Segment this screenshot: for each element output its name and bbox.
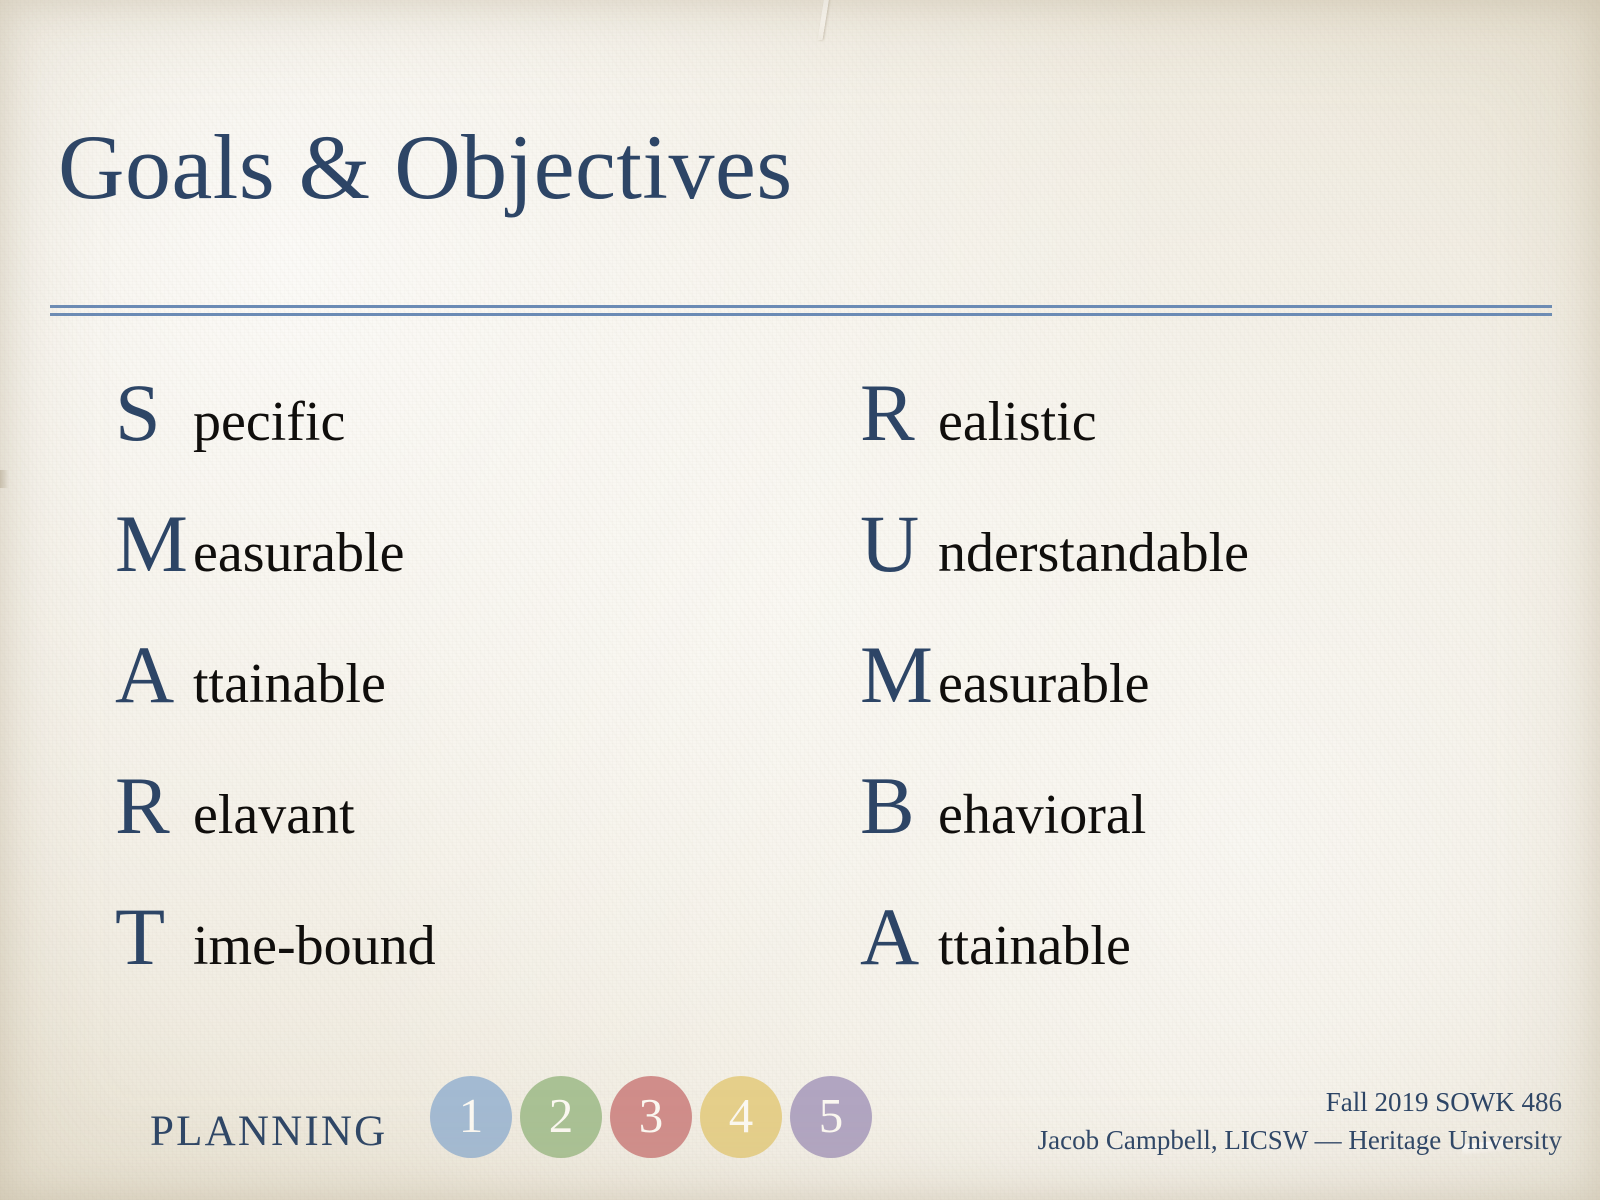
acronym-word: ehavioral <box>938 787 1146 843</box>
step-dot-label: 1 <box>459 1091 484 1140</box>
acronym-word: easurable <box>938 656 1149 712</box>
credits-course: Fall 2019 SOWK 486 <box>1038 1084 1562 1122</box>
acronym-item: R elavant <box>115 765 815 896</box>
step-dot-label: 4 <box>729 1091 754 1140</box>
acronym-initial: R <box>115 765 191 847</box>
step-indicator: 1 2 3 4 5 <box>430 1076 872 1158</box>
acronym-item: T ime-bound <box>115 896 815 1027</box>
acronym-item: S pecific <box>115 372 815 503</box>
step-dot-label: 2 <box>549 1091 574 1140</box>
credits-author: Jacob Campbell, LICSW — Heritage Univers… <box>1038 1122 1562 1160</box>
slide-footer: PLANNING 1 2 3 4 5 Fall 2019 SOWK 486 Ja… <box>0 1070 1600 1200</box>
slide: Goals & Objectives S pecific M easurable… <box>0 0 1600 1200</box>
slide-title: Goals & Objectives <box>58 119 793 216</box>
acronym-initial: A <box>115 634 191 716</box>
step-dot-1[interactable]: 1 <box>430 1076 512 1158</box>
acronym-item: R ealistic <box>860 372 1560 503</box>
credits-block: Fall 2019 SOWK 486 Jacob Campbell, LICSW… <box>1038 1084 1562 1160</box>
acronym-item: A ttainable <box>860 896 1560 1027</box>
acronym-word: ime-bound <box>193 918 436 974</box>
step-dot-2[interactable]: 2 <box>520 1076 602 1158</box>
step-dot-5[interactable]: 5 <box>790 1076 872 1158</box>
step-dot-label: 5 <box>819 1091 844 1140</box>
acronym-word: nderstandable <box>938 525 1249 581</box>
step-dot-3[interactable]: 3 <box>610 1076 692 1158</box>
divider-line-top <box>50 305 1552 308</box>
acronym-initial: B <box>860 765 936 847</box>
acronym-word: pecific <box>193 394 345 450</box>
step-dot-label: 3 <box>639 1091 664 1140</box>
step-dot-4[interactable]: 4 <box>700 1076 782 1158</box>
acronym-item: M easurable <box>860 634 1560 765</box>
acronym-column-smart: S pecific M easurable A ttainable R elav… <box>115 372 815 1027</box>
acronym-column-rumba: R ealistic U nderstandable M easurable B… <box>860 372 1560 1027</box>
acronym-initial: S <box>115 372 191 454</box>
acronym-word: ttainable <box>938 918 1131 974</box>
paper-tear-icon <box>818 0 832 42</box>
acronym-initial: R <box>860 372 936 454</box>
acronym-word: easurable <box>193 525 404 581</box>
acronym-initial: A <box>860 896 936 978</box>
acronym-word: ealistic <box>938 394 1097 450</box>
acronym-item: U nderstandable <box>860 503 1560 634</box>
acronym-word: ttainable <box>193 656 386 712</box>
acronym-item: M easurable <box>115 503 815 634</box>
divider-line-bottom <box>50 313 1552 316</box>
acronym-item: A ttainable <box>115 634 815 765</box>
acronym-item: B ehavioral <box>860 765 1560 896</box>
acronym-initial: T <box>115 896 191 978</box>
acronym-initial: M <box>115 503 191 585</box>
section-label-planning: PLANNING <box>150 1107 387 1156</box>
acronym-word: elavant <box>193 787 355 843</box>
title-divider <box>50 305 1552 316</box>
acronym-initial: U <box>860 503 936 585</box>
acronym-initial: M <box>860 634 936 716</box>
acronym-columns: S pecific M easurable A ttainable R elav… <box>0 372 1600 1012</box>
